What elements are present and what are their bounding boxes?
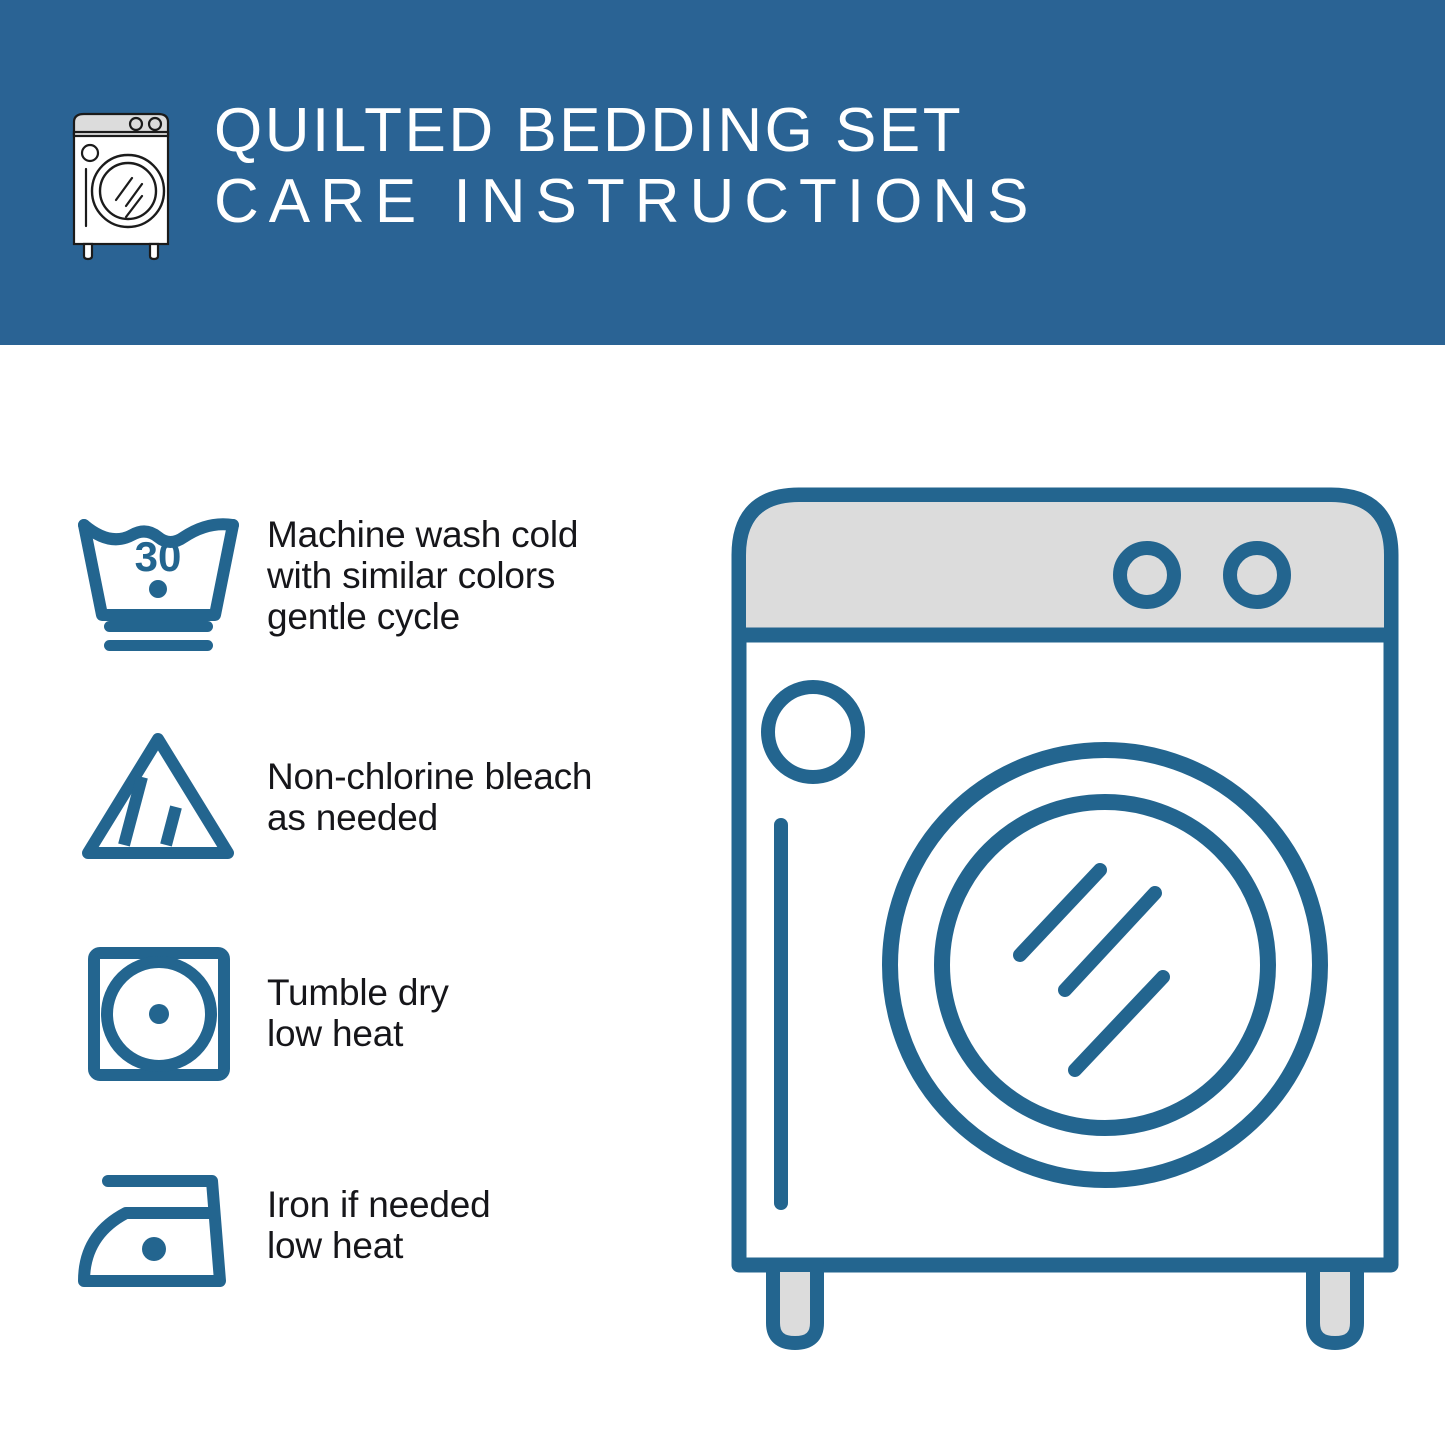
page-subtitle: CARE INSTRUCTIONS (210, 167, 1038, 236)
leg-left (773, 1265, 817, 1343)
care-line: low heat (267, 1225, 490, 1266)
machine-wash-30-icon: 30 (70, 495, 245, 655)
page-title: QUILTED BEDDING SET (210, 96, 963, 165)
care-text-bleach: Non-chlorine bleach as needed (267, 756, 592, 838)
washing-machine-logo-icon (62, 106, 180, 261)
care-row-tumble-dry: Tumble dry low heat (70, 933, 690, 1093)
iron-low-heat-icon (70, 1145, 245, 1305)
care-row-machine-wash: 30 Machine wash cold with similar colors… (70, 495, 690, 655)
care-line: Iron if needed (267, 1184, 490, 1225)
care-line: as needed (267, 797, 592, 838)
care-row-iron: Iron if needed low heat (70, 1145, 690, 1305)
care-line: Non-chlorine bleach (267, 756, 592, 797)
care-text-iron: Iron if needed low heat (267, 1184, 490, 1266)
care-row-bleach: Non-chlorine bleach as needed (70, 717, 690, 877)
leg-right (1313, 1265, 1357, 1343)
care-text-tumble-dry: Tumble dry low heat (267, 972, 449, 1054)
header-titles: QUILTED BEDDING SET CARE INSTRUCTIONS (210, 96, 1445, 238)
care-instructions-page: QUILTED BEDDING SET CARE INSTRUCTIONS 30 (0, 0, 1445, 1445)
care-line: gentle cycle (267, 596, 578, 637)
care-line: Tumble dry (267, 972, 449, 1013)
tumble-dry-low-icon (70, 933, 245, 1093)
header-content: QUILTED BEDDING SET CARE INSTRUCTIONS (62, 96, 1445, 261)
care-instructions-list: 30 Machine wash cold with similar colors… (0, 345, 700, 1445)
wash-temperature-value: 30 (135, 533, 182, 580)
care-text-machine-wash: Machine wash cold with similar colors ge… (267, 514, 578, 637)
care-line: low heat (267, 1013, 449, 1054)
header-banner: QUILTED BEDDING SET CARE INSTRUCTIONS (0, 0, 1445, 345)
front-load-washing-machine-illustration (715, 465, 1415, 1365)
care-line: with similar colors (267, 555, 578, 596)
non-chlorine-bleach-triangle-icon (70, 717, 245, 877)
care-line: Machine wash cold (267, 514, 578, 555)
